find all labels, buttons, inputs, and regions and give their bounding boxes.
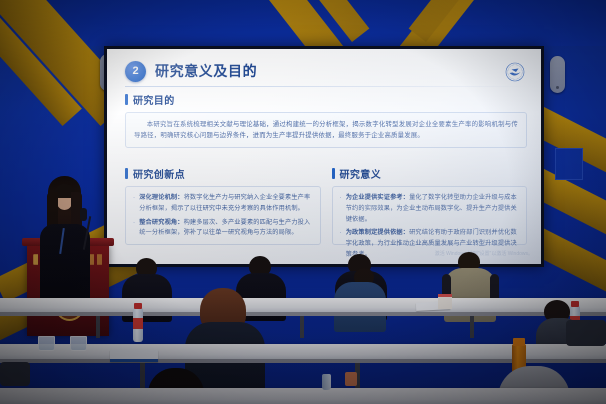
slide-title-divider [125, 86, 527, 87]
bullet-dot: · [133, 193, 135, 214]
slide-two-column-area: 研究创新点 · 深化理论机制：将数字化生产力与研究纳入企业全要素生产率分析框架，… [125, 157, 527, 245]
bullet-lead: 整合研究视角： [139, 219, 183, 226]
water-glass [38, 336, 55, 351]
bottle-label [133, 318, 143, 329]
wall-access-panel [555, 148, 583, 180]
water-bottle [322, 374, 331, 390]
conference-hall-scene: 2 研究意义及目的 研究目的 本研究旨在系统梳理相关文献与理论基础，通过构建统一… [0, 0, 606, 404]
bullet-dot: · [340, 193, 342, 225]
table-leg [140, 363, 145, 389]
university-emblem-icon [505, 62, 525, 82]
section-title-innovation: 研究创新点 [133, 166, 185, 181]
column-significance: 研究意义 · 为企业提供实证参考：量化了数字化转型助力企业升级与成本节约的实际效… [332, 157, 528, 245]
innovation-bullet-box: · 深化理论机制：将数字化生产力与研究纳入企业全要素生产率分析框架，揭示了以往研… [125, 186, 321, 245]
list-item: · 深化理论机制：将数字化生产力与研究纳入企业全要素生产率分析框架，揭示了以往研… [133, 193, 313, 214]
water-glass [70, 336, 87, 351]
thermos-cap [513, 338, 525, 346]
bottle-cap [571, 301, 579, 307]
slide-title: 研究意义及目的 [155, 61, 257, 81]
column-innovation: 研究创新点 · 深化理论机制：将数字化生产力与研究纳入企业全要素生产率分析框架，… [125, 157, 321, 245]
bullet-dot: · [340, 228, 342, 260]
paper-cup [345, 372, 357, 386]
table-leg [96, 316, 100, 338]
slide-title-row: 2 研究意义及目的 [125, 59, 527, 83]
significance-bullet-box: · 为企业提供实证参考：量化了数字化转型助力企业升级与成本节约的实际效果，为企业… [332, 186, 528, 245]
table-leg [300, 316, 304, 338]
section-title-significance: 研究意义 [340, 166, 382, 181]
document-paper [110, 350, 158, 362]
list-item: · 为企业提供实证参考：量化了数字化转型助力企业升级与成本节约的实际效果，为企业… [340, 193, 520, 225]
purpose-paragraph: 本研究旨在系统梳理相关文献与理论基础，通过构建统一的分析框架，揭示数字化转型发展… [134, 119, 518, 141]
conference-table-row3 [0, 388, 606, 404]
conference-table-row1 [0, 298, 606, 312]
chair-back [566, 320, 606, 346]
section-header-innovation: 研究创新点 [125, 166, 321, 181]
list-item: · 整合研究视角：构建多层次、多产业要素的匹配与生产力投入统一分析框架，弥补了以… [133, 218, 313, 239]
microphone-head [80, 208, 87, 221]
table-leg [470, 316, 474, 338]
purpose-text-box: 本研究旨在系统梳理相关文献与理论基础，通过构建统一的分析框架，揭示数字化转型发展… [125, 112, 527, 148]
bottle-cap [134, 303, 142, 309]
section-accent-bar [125, 94, 128, 105]
section-header-purpose: 研究目的 [125, 92, 527, 107]
bullet-lead: 深化理论机制： [139, 194, 183, 201]
section-accent-bar [125, 168, 128, 179]
paper-cup [438, 294, 452, 309]
windows-activation-watermark: 激活 Windows 转到"设置"以激活 Windows。 [435, 251, 533, 259]
section-accent-bar [332, 168, 335, 179]
section-title-purpose: 研究目的 [133, 92, 175, 107]
bullet-dot: · [133, 218, 135, 239]
presenter-torso [40, 224, 90, 306]
wall-speaker-right [550, 56, 565, 93]
presentation-slide: 2 研究意义及目的 研究目的 本研究旨在系统梳理相关文献与理论基础，通过构建统一… [107, 49, 541, 264]
chair-back [0, 362, 30, 386]
bullet-lead: 为企业提供实证参考： [346, 194, 409, 201]
bullet-lead: 为政策制定提供依据： [346, 229, 409, 236]
slide-number-badge: 2 [125, 61, 146, 82]
projection-screen: 2 研究意义及目的 研究目的 本研究旨在系统梳理相关文献与理论基础，通过构建统一… [104, 46, 544, 267]
section-header-significance: 研究意义 [332, 166, 528, 181]
